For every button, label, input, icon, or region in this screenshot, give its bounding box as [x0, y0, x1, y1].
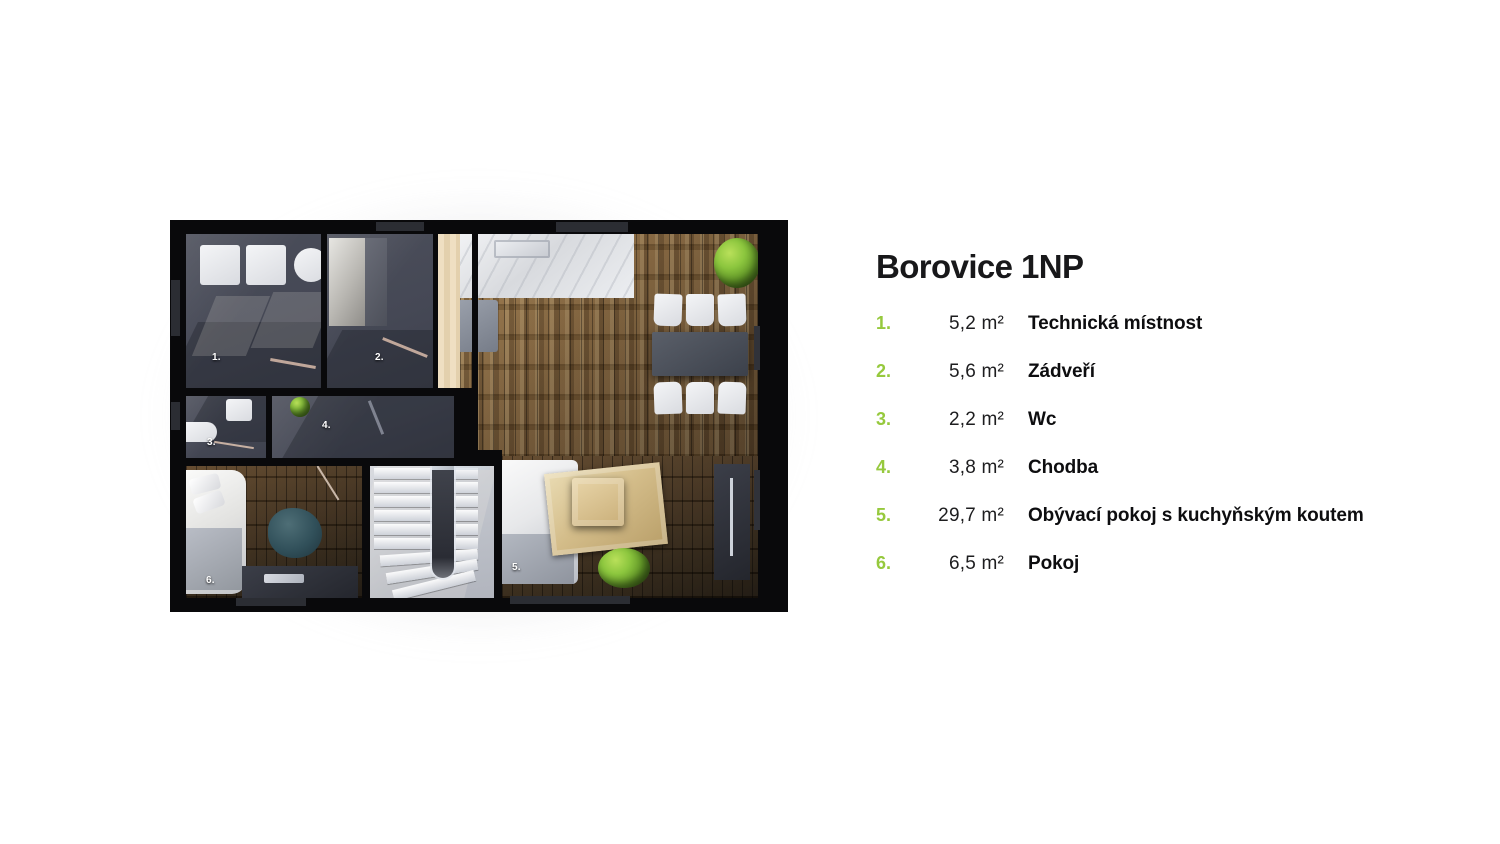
coat-hooks: [365, 238, 387, 326]
room-marker-2: 2.: [375, 352, 384, 363]
room-marker-4: 4.: [322, 420, 331, 431]
legend-number-4: 4.: [876, 457, 906, 478]
legend-name-2: Zádveří: [1028, 361, 1095, 383]
room-obyvaci-pokoj-kuchyne-upper: [460, 234, 758, 456]
legend-number-2: 2.: [876, 361, 906, 382]
wall-interior-corner: [454, 390, 478, 458]
coffee-table: [572, 478, 624, 526]
room-chodba: 4.: [272, 396, 462, 458]
kitchen-island: [460, 300, 498, 352]
potted-plant-living: [598, 548, 650, 588]
cooktop: [494, 240, 550, 258]
page-title: Borovice 1NP: [876, 249, 1466, 285]
cabinet-handle: [730, 478, 733, 556]
appliance-dryer: [246, 245, 286, 285]
legend-name-3: Wc: [1028, 409, 1056, 431]
window-top-1: [376, 222, 424, 231]
wall-interior-h1: [186, 388, 478, 396]
room-marker-1: 1.: [212, 352, 221, 363]
wall-interior-v1: [321, 234, 327, 388]
appliance-washer: [200, 245, 240, 285]
wall-interior-v2: [433, 234, 438, 390]
legend-name-1: Technická místnost: [1028, 313, 1202, 335]
dining-chair-6: [717, 382, 746, 415]
legend-number-3: 3.: [876, 409, 906, 430]
legend-area-6: 6,5 m²: [906, 553, 1006, 575]
dining-chair-2: [686, 294, 714, 326]
room-obyvaci-pokoj-kuchyne-lower: 5.: [502, 456, 758, 598]
floorplan-page: 1. 2. 3.: [0, 0, 1500, 844]
boiler-tank: [294, 248, 321, 282]
sink: [226, 399, 252, 421]
legend-area-4: 3,8 m²: [906, 457, 1006, 479]
floorplan-image: 1. 2. 3.: [170, 220, 788, 612]
wall-interior-v5: [362, 458, 370, 598]
wall-interior-v3: [472, 234, 478, 392]
potted-plant-corridor: [290, 397, 310, 417]
window-right-1: [754, 326, 760, 370]
legend-name-4: Chodba: [1028, 457, 1098, 479]
floorplan-canvas: 1. 2. 3.: [170, 220, 788, 612]
room-marker-3: 3.: [207, 437, 216, 448]
beanbag-chair: [268, 508, 322, 558]
potted-plant-dining: [714, 238, 758, 288]
room-zadveri: 2.: [327, 234, 433, 388]
legend-row-1: 1. 5,2 m² Technická místnost: [876, 313, 1466, 361]
dining-chair-1: [653, 294, 682, 327]
door-swing-3: [214, 441, 254, 449]
wall-interior-h2: [186, 458, 494, 466]
legend-row-5: 5. 29,7 m² Obývací pokoj s kuchyňským ko…: [876, 505, 1466, 553]
room-marker-5: 5.: [512, 562, 521, 573]
wall-interior-v4: [266, 396, 272, 458]
door-swing-6: [317, 466, 340, 500]
wall-exterior-top: [170, 220, 788, 234]
wardrobe: [329, 238, 365, 326]
door-swing-4: [368, 400, 384, 435]
window-left-1: [171, 280, 180, 336]
legend-number-1: 1.: [876, 313, 906, 334]
dining-chair-4: [653, 382, 682, 415]
window-left-2: [171, 402, 180, 430]
legend-name-6: Pokoj: [1028, 553, 1079, 575]
legend-panel: Borovice 1NP 1. 5,2 m² Technická místnos…: [876, 249, 1466, 601]
legend-area-5: 29,7 m²: [906, 505, 1006, 527]
wall-interior-v6: [494, 450, 502, 598]
legend-row-4: 4. 3,8 m² Chodba: [876, 457, 1466, 505]
legend-number-6: 6.: [876, 553, 906, 574]
room-technicka-mistnost: 1.: [186, 234, 321, 388]
legend-row-3: 3. 2,2 m² Wc: [876, 409, 1466, 457]
legend-area-2: 5,6 m²: [906, 361, 1006, 383]
door-swing-1: [270, 358, 316, 369]
wall-exterior-right: [758, 220, 788, 612]
legend-area-3: 2,2 m²: [906, 409, 1006, 431]
tv-screen: [264, 574, 304, 583]
stair-glass-balustrade: [432, 466, 490, 470]
room-wc: 3.: [186, 396, 266, 458]
legend-row-2: 2. 5,6 m² Zádveří: [876, 361, 1466, 409]
legend-number-5: 5.: [876, 505, 906, 526]
dining-chair-3: [717, 294, 746, 327]
window-top-2: [556, 222, 628, 232]
legend-row-6: 6. 6,5 m² Pokoj: [876, 553, 1466, 601]
window-right-2: [754, 470, 760, 530]
room-marker-6: 6.: [206, 575, 215, 586]
window-bottom-1: [236, 598, 306, 606]
dining-chair-5: [686, 382, 714, 414]
legend-name-5: Obývací pokoj s kuchyňským koutem: [1028, 505, 1364, 527]
dining-table: [652, 332, 748, 376]
room-pokoj: 6.: [186, 466, 362, 598]
legend-area-1: 5,2 m²: [906, 313, 1006, 335]
door-swing-2: [382, 337, 428, 358]
stair-railing: [432, 466, 454, 578]
staircase: [370, 466, 494, 608]
window-bottom-2: [510, 596, 630, 604]
